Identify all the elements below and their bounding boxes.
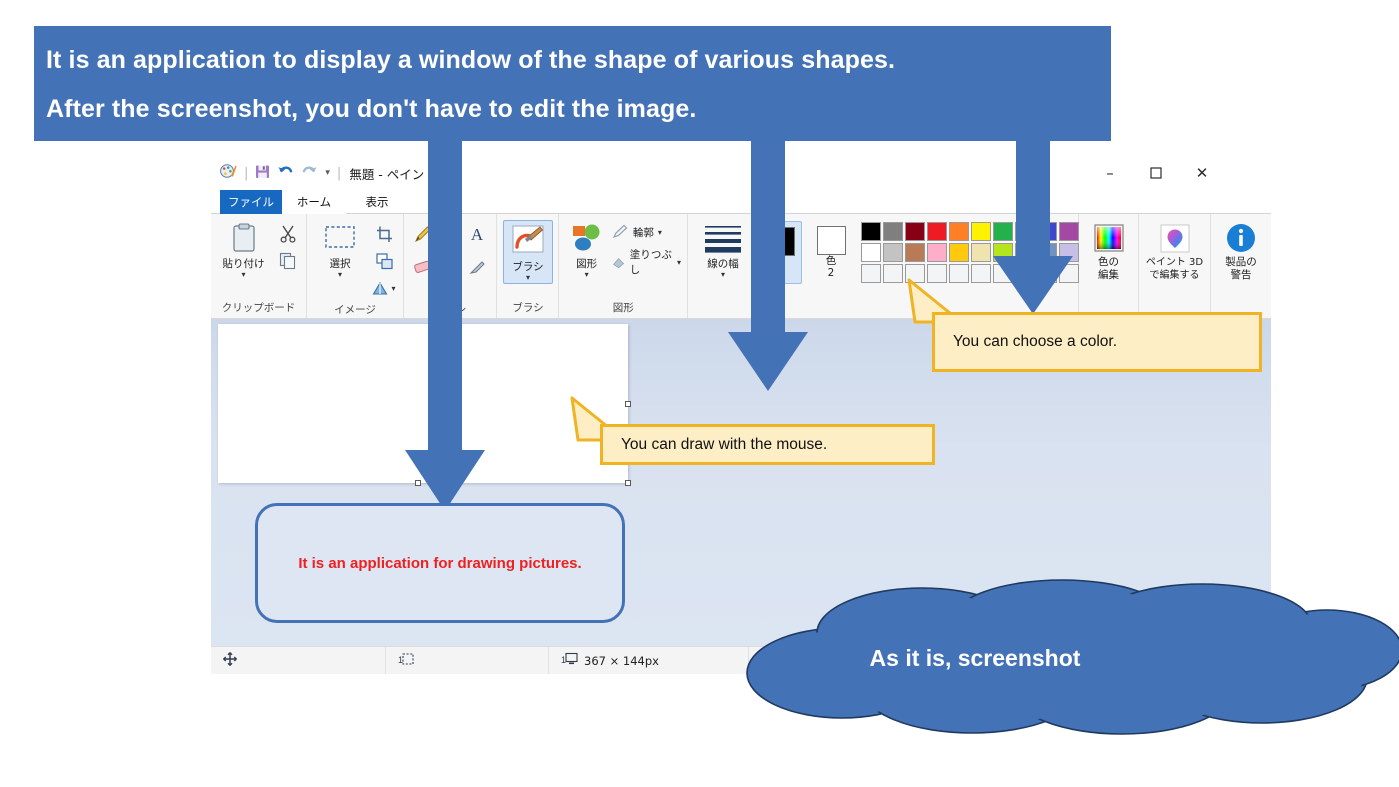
edit-colors-label-1: 色の (1098, 256, 1119, 269)
selection-icon (324, 220, 356, 256)
ribbon-group-product-alert: 製品の 警告 (1211, 214, 1271, 318)
image-size-icon: 1 (561, 652, 578, 669)
palette-swatch-2-4[interactable] (927, 243, 947, 262)
shapes-group-label: 図形 (613, 298, 634, 318)
edit-colors-label-2: 編集 (1098, 269, 1119, 282)
color-spectrum-icon (1094, 220, 1124, 256)
palette-swatch-3-2[interactable] (883, 264, 903, 283)
title-banner: It is an application to display a window… (34, 26, 1111, 141)
select-caret-icon[interactable]: ▾ (338, 271, 342, 278)
customize-qat-icon[interactable]: ▾ (325, 170, 330, 177)
callout-draw-mouse-text: You can draw with the mouse. (603, 436, 827, 454)
line-width-caret-icon[interactable]: ▾ (721, 271, 725, 278)
ribbon-group-edit-colors: 色の 編集 (1079, 214, 1139, 318)
paint3d-label-1: ペイント 3D (1146, 256, 1203, 269)
callout-draw-mouse: You can draw with the mouse. (600, 424, 935, 465)
selection-size-icon: 1 (398, 652, 414, 669)
select-label: 選択 (330, 256, 351, 271)
banner-line-1: It is an application to display a window… (46, 36, 1111, 85)
outline-label: 輪郭 (633, 225, 654, 240)
shapes-caret-icon[interactable]: ▾ (585, 271, 589, 278)
paste-button[interactable]: 貼り付け ▾ (217, 220, 271, 278)
color2-swatch-button[interactable]: 色2 (811, 221, 852, 282)
svg-text:1: 1 (398, 655, 403, 665)
info-circle-icon (1225, 220, 1257, 256)
palette-swatch-1-2[interactable] (883, 222, 903, 241)
quick-access-toolbar[interactable]: | (211, 163, 341, 183)
tab-home[interactable]: ホーム (282, 190, 346, 214)
status-image-size-value: 367 × 144px (584, 654, 659, 668)
paint-app-icon[interactable] (220, 163, 237, 183)
resize-button[interactable] (371, 249, 397, 273)
copy-button[interactable] (275, 249, 301, 273)
rounded-note-box: It is an application for drawing picture… (255, 503, 625, 623)
fill-button[interactable]: 塗りつぶし ▾ (612, 247, 681, 277)
outline-button[interactable]: 輪郭 ▾ (612, 224, 681, 240)
status-cursor-position (211, 647, 386, 674)
ribbon-group-clipboard: 貼り付け ▾ (211, 214, 307, 318)
palette-swatch-3-6[interactable] (971, 264, 991, 283)
color2-label: 色2 (817, 255, 846, 279)
rotate-button[interactable]: ▾ (371, 276, 397, 300)
canvas-handle-corner[interactable] (625, 480, 631, 486)
fill-label: 塗りつぶし (630, 247, 673, 277)
callout-choose-color-text: You can choose a color. (935, 333, 1117, 351)
close-button[interactable]: ✕ (1179, 156, 1225, 190)
tab-file[interactable]: ファイル (220, 190, 282, 214)
crop-button[interactable] (371, 222, 397, 246)
slide-canvas: | (0, 0, 1399, 787)
callout-choose-color: You can choose a color. (932, 312, 1262, 372)
image-group-label: イメージ (334, 300, 376, 320)
status-image-size: 1 367 × 144px (549, 647, 749, 674)
palette-swatch-2-6[interactable] (971, 243, 991, 262)
palette-swatch-1-3[interactable] (905, 222, 925, 241)
palette-swatch-1-1[interactable] (861, 222, 881, 241)
palette-swatch-1-4[interactable] (927, 222, 947, 241)
rounded-note-text: It is an application for drawing picture… (298, 555, 581, 572)
image-small-buttons: ▾ (371, 220, 397, 300)
paste-label: 貼り付け (223, 256, 265, 271)
palette-swatch-3-1[interactable] (861, 264, 881, 283)
paint3d-label-2: で編集する (1150, 269, 1200, 282)
fill-caret-icon[interactable]: ▾ (677, 259, 681, 266)
redo-icon[interactable] (301, 164, 318, 183)
tab-view[interactable]: 表示 (346, 190, 408, 214)
save-icon[interactable] (255, 164, 270, 183)
paste-caret-icon[interactable]: ▾ (241, 271, 245, 278)
clipboard-group-label: クリップボード (222, 298, 296, 318)
ribbon-group-paint3d: ペイント 3D で編集する (1139, 214, 1211, 318)
minimize-button[interactable]: – (1087, 156, 1133, 190)
brush-icon (511, 223, 545, 259)
maximize-button[interactable] (1133, 156, 1179, 190)
cut-button[interactable] (275, 222, 301, 246)
svg-text:1: 1 (561, 655, 566, 665)
outline-caret-icon[interactable]: ▾ (658, 229, 662, 236)
arrow-to-palette (992, 120, 1074, 315)
clipboard-small-buttons (275, 220, 301, 273)
brush-caret-icon[interactable]: ▾ (526, 274, 530, 281)
ribbon-group-image: 選択 ▾ (307, 214, 404, 318)
brush-label: ブラシ (512, 259, 543, 274)
move-crosshair-icon (223, 652, 237, 669)
color2-value (817, 226, 846, 255)
palette-swatch-2-5[interactable] (949, 243, 969, 262)
clipboard-icon (231, 220, 257, 256)
rotate-caret-icon[interactable]: ▾ (391, 285, 395, 292)
brush-button[interactable]: ブラシ ▾ (503, 220, 553, 284)
ribbon-group-shapes: 図形 ▾ 輪郭 ▾ (559, 214, 688, 318)
qat-divider-2: | (337, 166, 341, 181)
palette-swatch-2-1[interactable] (861, 243, 881, 262)
shapes-icon (570, 220, 604, 256)
banner-line-2: After the screenshot, you don't have to … (46, 85, 1111, 134)
cloud-text: As it is, screenshot (855, 645, 1095, 672)
palette-swatch-1-6[interactable] (971, 222, 991, 241)
qat-divider-1: | (244, 166, 248, 181)
paint3d-icon (1160, 220, 1190, 256)
shapes-button[interactable]: 図形 ▾ (565, 220, 607, 278)
undo-icon[interactable] (277, 164, 294, 183)
product-alert-label-1: 製品の (1225, 256, 1257, 269)
brushes-group-label: ブラシ (512, 298, 543, 318)
ribbon-group-brushes: ブラシ ▾ ブラシ (497, 214, 559, 318)
palette-swatch-1-5[interactable] (949, 222, 969, 241)
palette-swatch-2-3[interactable] (905, 243, 925, 262)
product-alert-button[interactable]: 製品の 警告 (1214, 220, 1268, 282)
arrow-to-canvas (404, 120, 486, 512)
arrow-to-drawing-area (727, 120, 809, 392)
shapes-label: 図形 (576, 256, 597, 271)
edit-colors-button[interactable]: 色の 編集 (1083, 220, 1135, 282)
select-button[interactable]: 選択 ▾ (313, 220, 367, 278)
edit-with-paint3d-button[interactable]: ペイント 3D で編集する (1142, 220, 1208, 282)
product-alert-label-2: 警告 (1231, 269, 1252, 282)
status-selection-size: 1 (386, 647, 549, 674)
palette-swatch-2-2[interactable] (883, 243, 903, 262)
